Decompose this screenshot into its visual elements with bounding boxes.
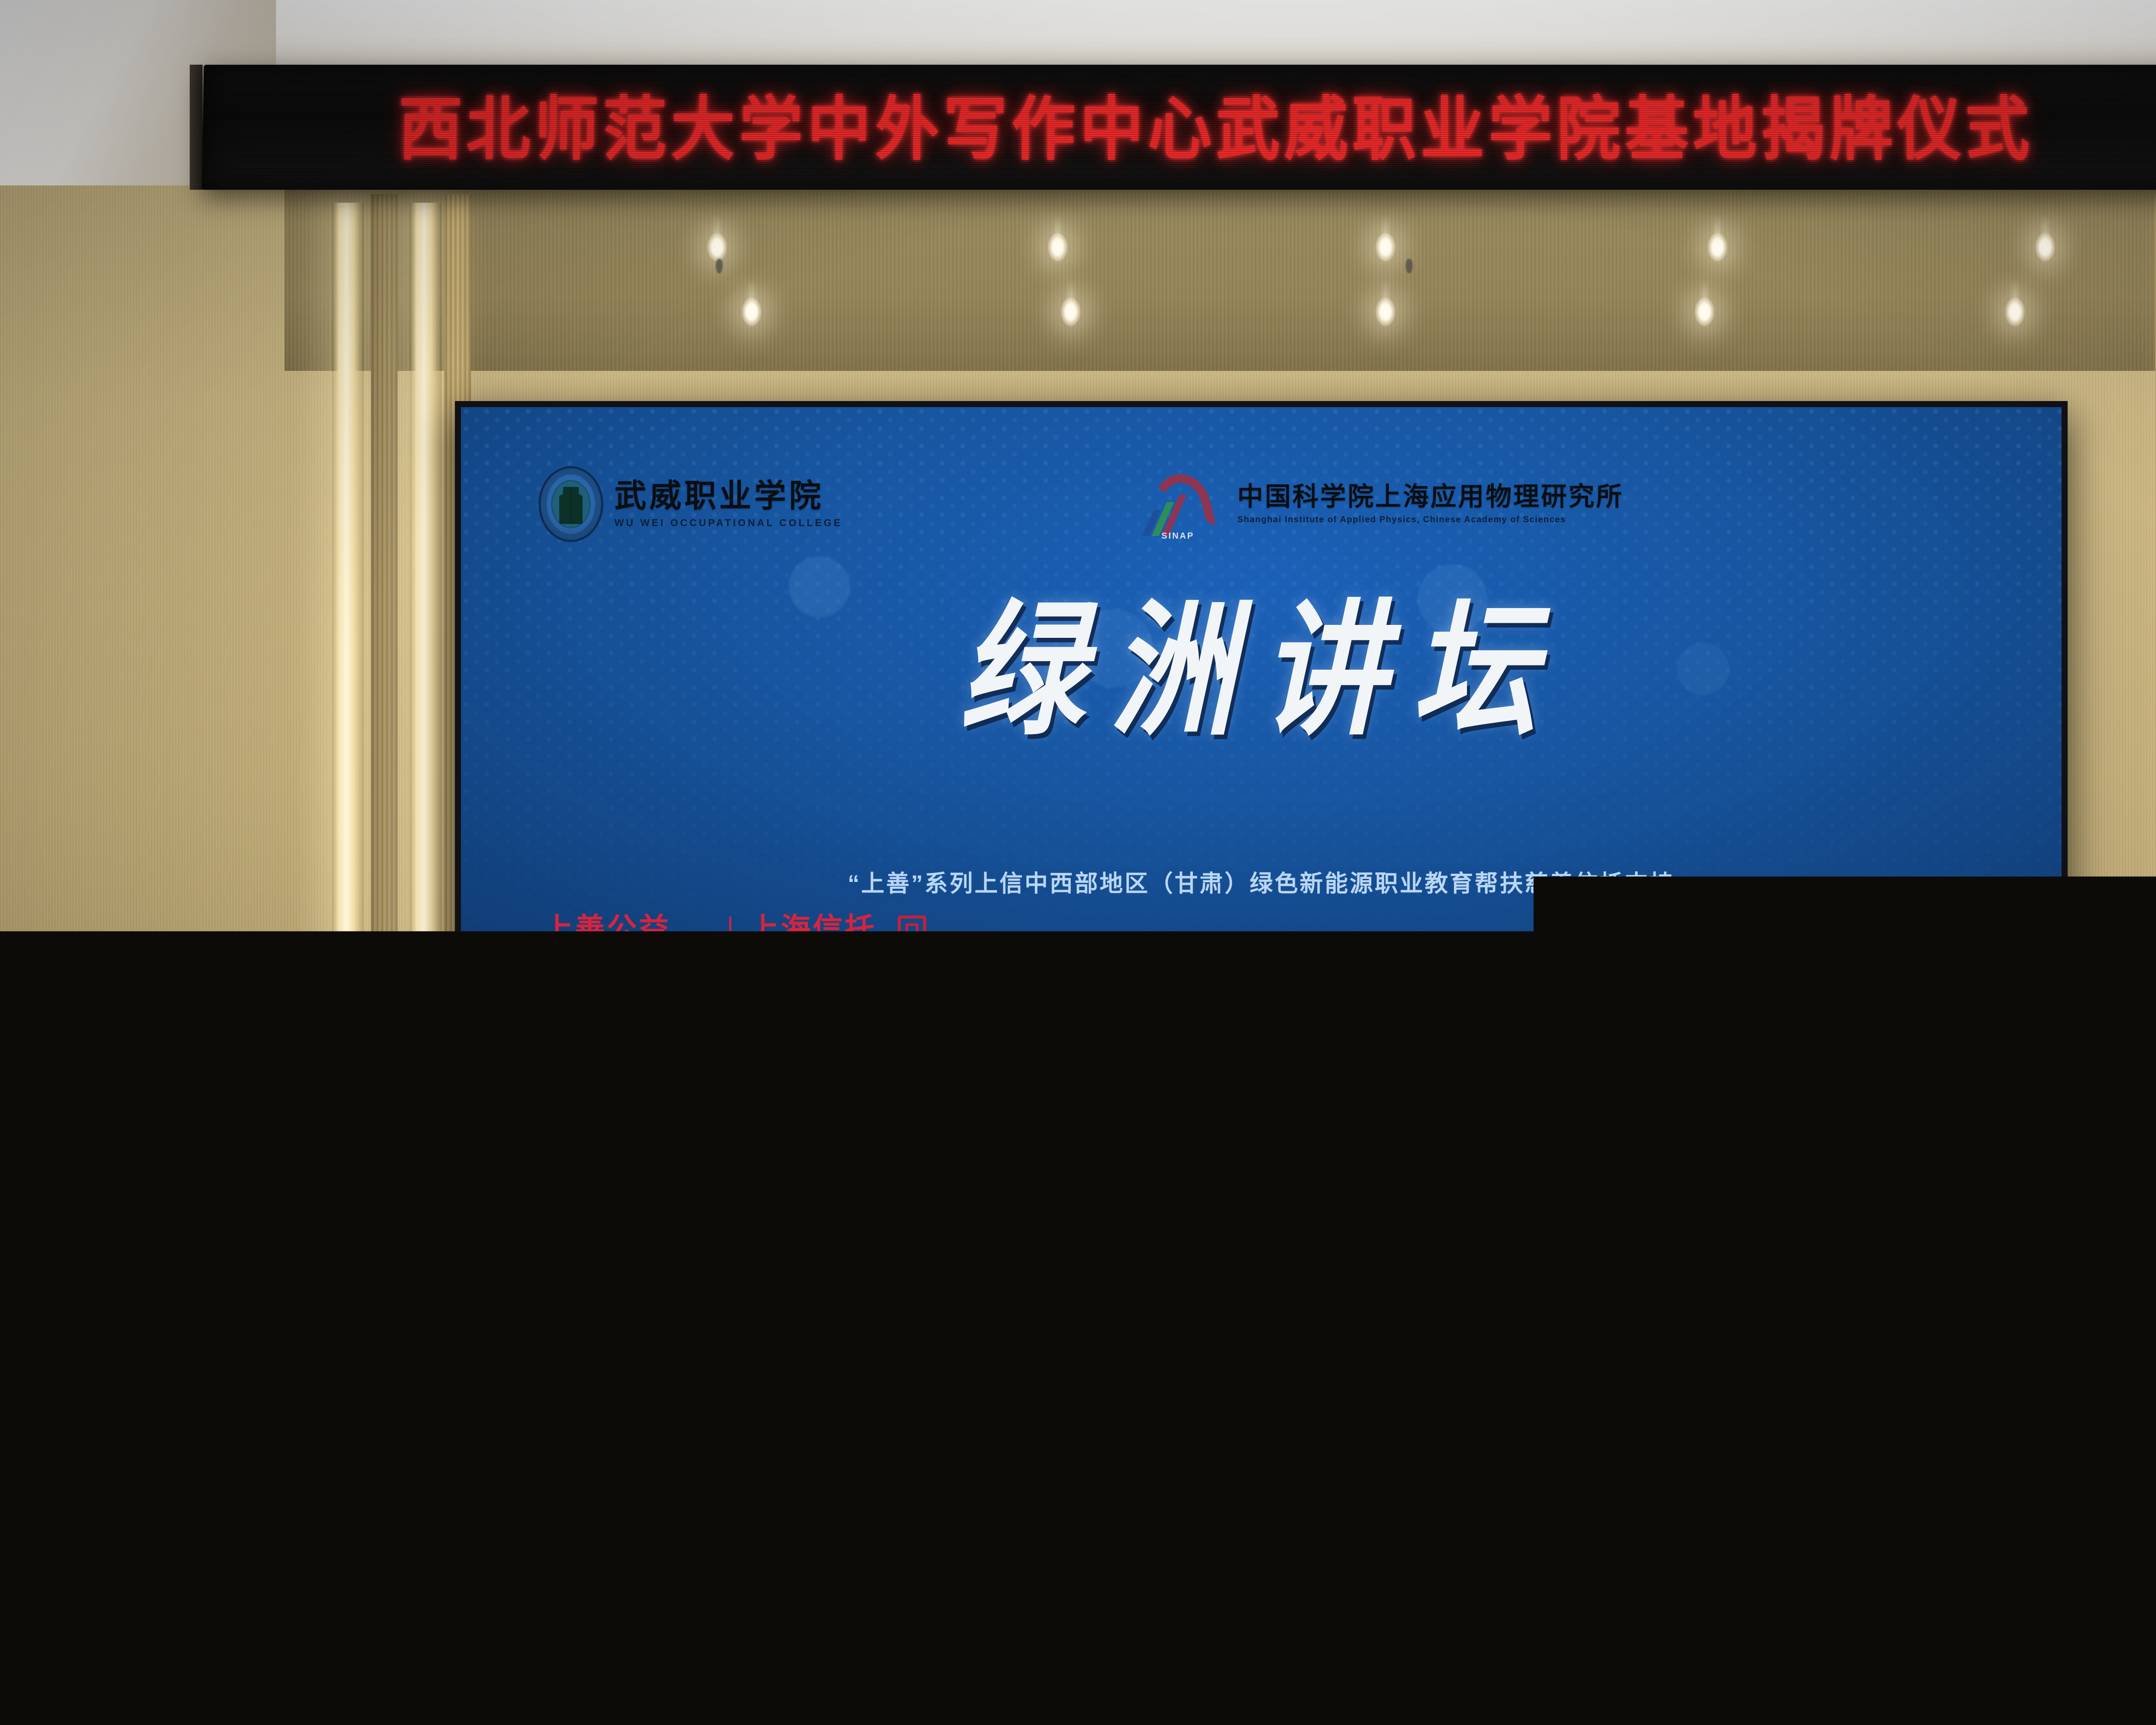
chair-cover-motto: 守正创新 xyxy=(379,1672,548,1689)
sponsor-2-cn: 上海信托 xyxy=(749,914,876,944)
downlight-icon xyxy=(707,233,727,261)
ceiling-sprinkler-icon xyxy=(1406,259,1413,273)
chair-cover-motto: 守正创新 xyxy=(1138,1672,1307,1689)
attendee-head xyxy=(1764,1527,1843,1609)
network-node-icon xyxy=(1548,1048,1560,1059)
chair-cover-motto: 守正创新 xyxy=(1319,1689,1501,1706)
wall-light-column-2 xyxy=(410,203,442,1475)
audience-chair[interactable]: 守正创新 xyxy=(1889,1565,2057,1712)
sinap-wordmark: SINAP xyxy=(1162,531,1194,541)
water-bottle[interactable] xyxy=(1005,1587,1019,1621)
downlight-icon xyxy=(1695,298,1714,326)
downlight-icon xyxy=(1048,233,1068,261)
attendee-head xyxy=(1039,1518,1119,1602)
led-banner-left-edge xyxy=(190,65,203,190)
downlight-icon xyxy=(1708,233,1727,261)
sinap-logo-block: SINAP 中国科学院上海应用物理研究所 Shanghai Institute … xyxy=(1144,470,1624,539)
computer-mouse[interactable] xyxy=(464,1393,494,1413)
chair-seat-cushion xyxy=(14,1702,185,1725)
chair-cover-motto: 守正创新 xyxy=(1889,1672,2057,1689)
chair-seat-cushion xyxy=(1510,1706,1685,1725)
sponsor-shanghai-trust: 上海信托 SHANGHAI TRUST xyxy=(749,914,876,961)
glasses-icon xyxy=(661,1188,717,1201)
chair-seat-cushion xyxy=(1691,1723,1879,1725)
ceiling-soffit xyxy=(0,0,2156,65)
seal-stamp-icon xyxy=(898,916,926,944)
downlight-icon xyxy=(1376,233,1395,261)
audience-chair[interactable]: 守正创新 xyxy=(763,1565,931,1712)
downlight-icon xyxy=(742,298,761,326)
name-card-text: 主讲人 xyxy=(747,1396,796,1416)
audience-chair[interactable]: 守正创新 xyxy=(185,1600,358,1725)
chair-seat-cushion xyxy=(1885,1706,2060,1725)
college-name-cn: 武威职业学院 xyxy=(614,480,843,512)
sinap-name-en: Shanghai Institute of Applied Physics, C… xyxy=(1238,515,1624,525)
audience-chair[interactable]: 守正创新 xyxy=(17,1565,181,1708)
microphone-icon xyxy=(724,1236,736,1247)
sponsor-divider xyxy=(729,916,731,965)
sponsor-row: 上善公益 S-I TRUST PHILANTHROPY 上海信托 SHANGHA… xyxy=(543,914,926,965)
college-logo-block: 武威职业学院 WU WEI OCCUPATIONAL COLLEGE xyxy=(539,466,843,542)
downlight-icon xyxy=(1061,298,1081,326)
laptop[interactable]: LENOVO xyxy=(513,1307,690,1406)
attendee-head xyxy=(1376,1522,1455,1606)
chair-cover-motto: 守正创新 xyxy=(17,1667,181,1684)
chair-cover-motto: 守正创新 xyxy=(1695,1689,1876,1706)
chair-cover-motto: 守正创新 xyxy=(944,1689,1125,1706)
led-banner-text: 西北师范大学中外写作中心武威职业学院基地揭牌仪式 xyxy=(398,95,2034,164)
sponsor-philanthropy: 上善公益 S-I TRUST PHILANTHROPY xyxy=(543,914,712,961)
conference-hall-photo: 西北师范大学中外写作中心武威职业学院基地揭牌仪式 武威职业学院 WU WEI O… xyxy=(0,0,2156,1725)
upper-wall-panel xyxy=(285,185,2156,371)
audience-chair[interactable]: 守正创新 xyxy=(1514,1565,1682,1712)
sinap-mark-icon: SINAP xyxy=(1144,470,1226,539)
ceiling-sprinkler-icon xyxy=(716,259,723,273)
downlight-icon xyxy=(2005,298,2025,326)
chair-cover-motto: 厚德志教 xyxy=(2070,1689,2156,1706)
audience-chair[interactable]: 厚德志教 xyxy=(2070,1600,2156,1725)
downlight-icon xyxy=(2035,233,2055,261)
audience-seating: 守正创新守正创新守正创新守正创新守正创新守正创新守正创新守正创新守正创新守正创新… xyxy=(0,1458,2156,1725)
downlight-icon xyxy=(1376,298,1395,326)
college-name-en: WU WEI OCCUPATIONAL COLLEGE xyxy=(614,517,843,529)
audience-chair[interactable]: 守正创新 xyxy=(1695,1600,1876,1725)
chair-cover-motto: 守正创新 xyxy=(1514,1672,1682,1689)
door-handle[interactable] xyxy=(15,1195,24,1281)
chair-cover-motto: 守正创新 xyxy=(763,1672,931,1689)
chair-seat-cushion xyxy=(760,1706,935,1725)
wall-wood-column-1 xyxy=(371,194,398,1479)
floating-island-graphic xyxy=(1013,933,1509,1278)
chair-seat-cushion xyxy=(182,1723,361,1725)
chair-seat-cushion xyxy=(561,1723,749,1725)
audience-chair[interactable]: 守正创新 xyxy=(1138,1565,1307,1712)
name-card: 主讲人 xyxy=(720,1380,824,1432)
audience-chair[interactable]: 守正创新 xyxy=(944,1600,1125,1725)
audience-chair[interactable]: 守正创新 xyxy=(379,1565,548,1712)
sponsor-2-en: SHANGHAI TRUST xyxy=(749,948,876,961)
audience-chair[interactable]: 守正创新 xyxy=(1319,1600,1501,1725)
screen-logo-row: 武威职业学院 WU WEI OCCUPATIONAL COLLEGE SINAP… xyxy=(461,459,2062,549)
chair-seat-cushion xyxy=(941,1723,1129,1725)
chair-cover-motto: 守正创新 xyxy=(185,1689,358,1706)
college-emblem-icon xyxy=(539,466,603,542)
side-door[interactable] xyxy=(0,1052,129,1440)
chair-cover-motto: 守正创新 xyxy=(565,1689,746,1706)
chair-seat-cushion xyxy=(1135,1706,1310,1725)
wall-light-column-1 xyxy=(332,203,364,1475)
network-node-icon xyxy=(2018,992,2030,1003)
chair-seat-cushion xyxy=(1316,1723,1504,1725)
chair-seat-cushion xyxy=(376,1706,551,1725)
led-banner: 西北师范大学中外写作中心武威职业学院基地揭牌仪式 xyxy=(202,65,2156,190)
audience-chair[interactable]: 守正创新 xyxy=(565,1600,746,1725)
sponsor-1-en: S-I TRUST PHILANTHROPY xyxy=(543,948,712,961)
laptop-brand-label: LENOVO xyxy=(532,1328,583,1339)
slide-title: 绿洲讲坛 xyxy=(461,600,2062,745)
sinap-name-cn: 中国科学院上海应用物理研究所 xyxy=(1238,484,1624,510)
sponsor-1-cn: 上善公益 xyxy=(543,914,712,944)
attendee-head xyxy=(647,1522,727,1606)
chair-seat-cushion xyxy=(2066,1723,2156,1725)
